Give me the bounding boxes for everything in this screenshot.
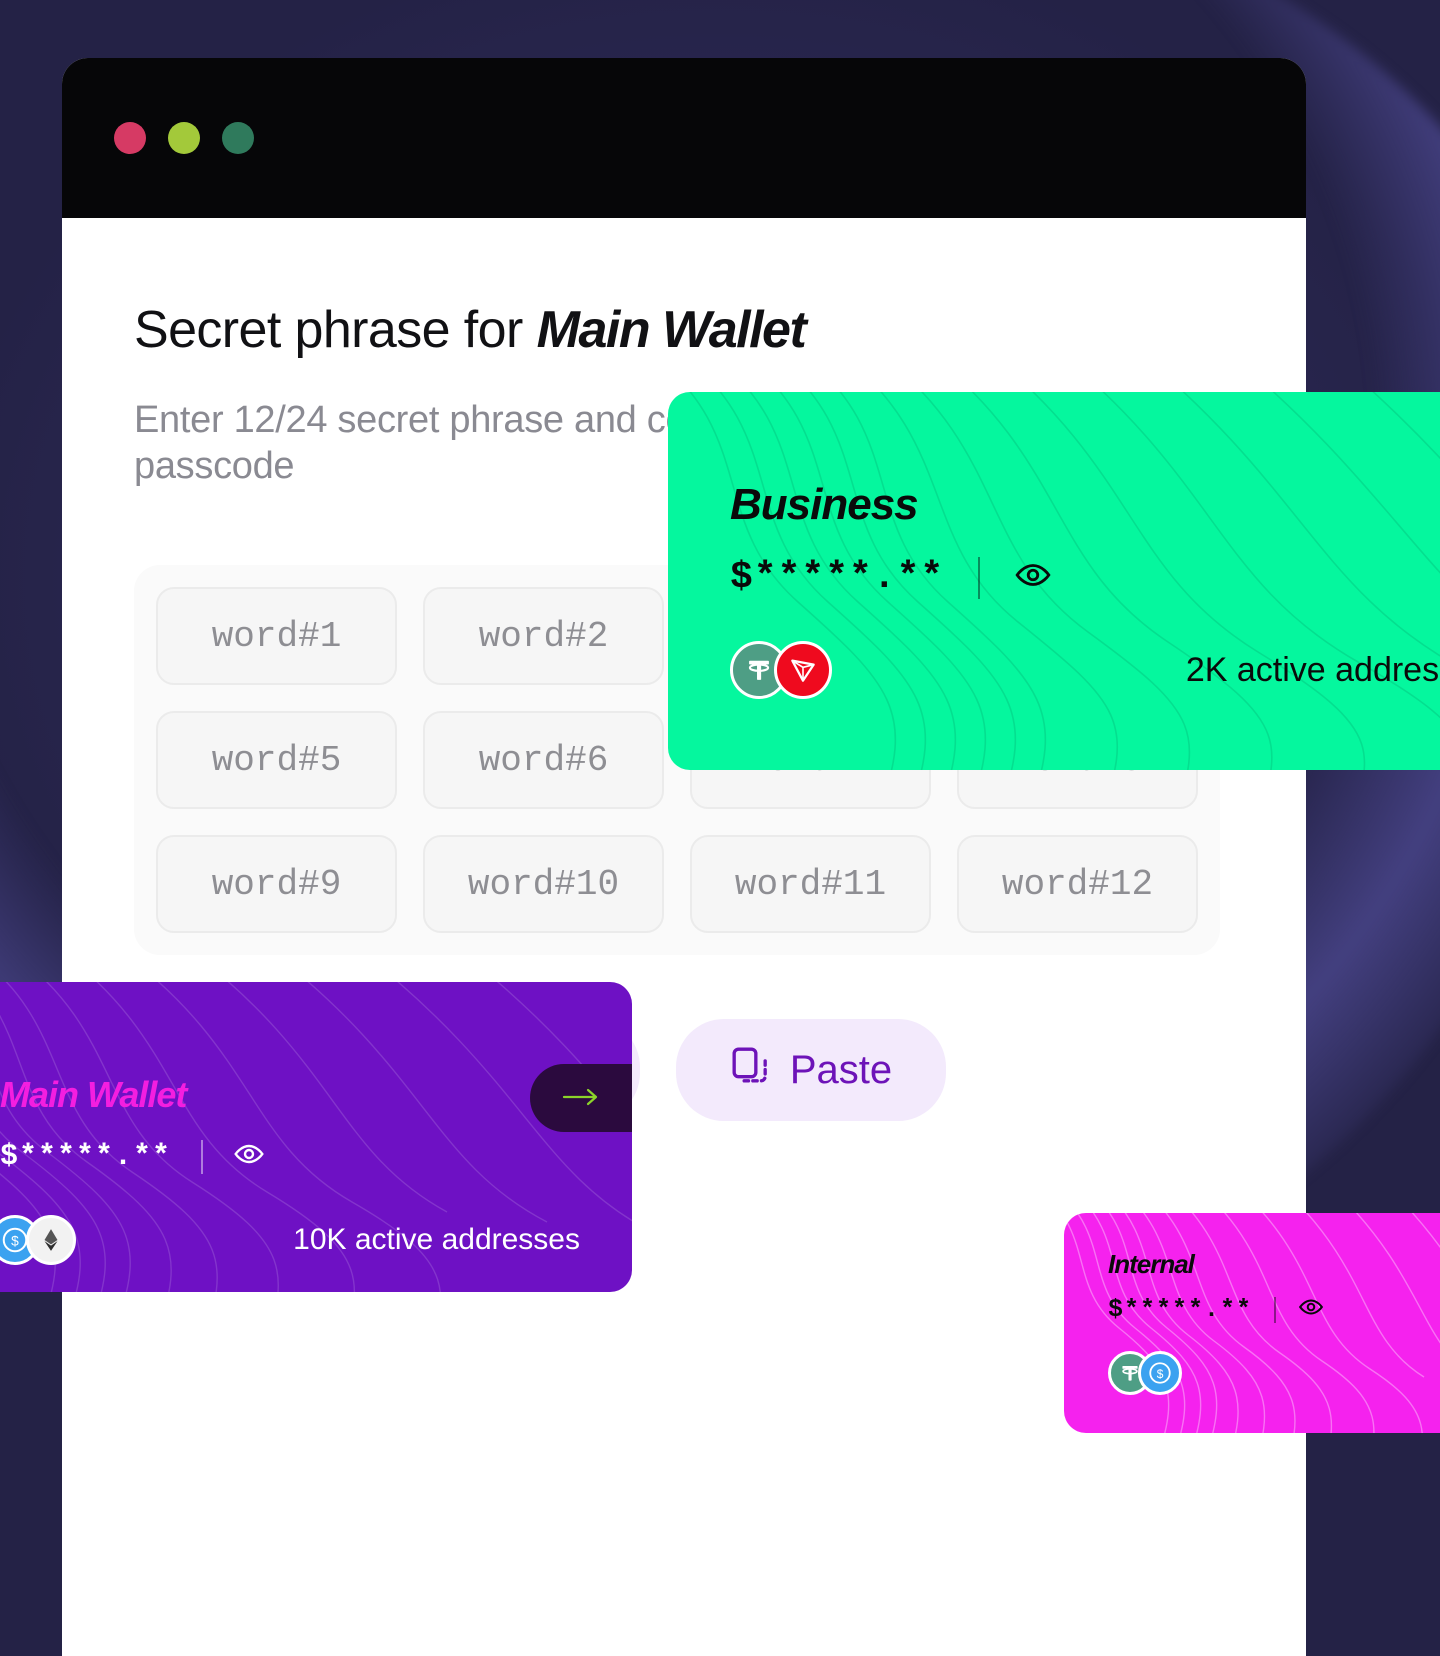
paste-button[interactable]: Paste [676, 1019, 946, 1121]
balance-divider [201, 1140, 203, 1174]
page-title-wallet-name: Main Wallet [537, 301, 806, 359]
wallet-card-business[interactable]: Business $*****.** 2K active addresses [668, 392, 1440, 770]
card-title-business: Business [730, 480, 1440, 530]
card-balance-main: $*****.** [0, 1140, 171, 1174]
page-title-prefix: Secret phrase for [134, 301, 523, 359]
card-balance-internal: $*****.** [1108, 1295, 1252, 1324]
balance-visibility-eye-icon[interactable] [1298, 1294, 1324, 1325]
balance-visibility-eye-icon[interactable] [1014, 556, 1052, 599]
arrow-right-icon [560, 1085, 602, 1112]
seed-word-input-11[interactable]: word#11 [690, 835, 931, 933]
paste-icon [730, 1045, 770, 1095]
wallet-card-main[interactable]: Main Wallet $*****.** $ 10K active addre… [0, 982, 632, 1292]
tron-coin-icon [774, 641, 832, 699]
card-next-arrow-button[interactable] [530, 1064, 632, 1132]
balance-divider [978, 557, 980, 599]
seed-word-input-12[interactable]: word#12 [957, 835, 1198, 933]
card-active-addresses-main: 10K active addresses [293, 1223, 580, 1257]
wallet-card-internal[interactable]: Internal $*****.** $ [1064, 1213, 1440, 1433]
balance-divider [1274, 1297, 1276, 1323]
svg-text:$: $ [1157, 1367, 1164, 1381]
seed-word-input-6[interactable]: word#6 [423, 711, 664, 809]
seed-word-input-5[interactable]: word#5 [156, 711, 397, 809]
card-active-addresses-business: 2K active addresses [1186, 651, 1440, 690]
window-close-button[interactable] [114, 122, 146, 154]
window-minimize-button[interactable] [168, 122, 200, 154]
card-coin-icons: $ [0, 1215, 76, 1265]
card-coin-icons: $ [1108, 1351, 1440, 1395]
page-title: Secret phrase forMain Wallet [134, 300, 1234, 360]
card-body: Internal $*****.** $ [1064, 1213, 1440, 1433]
window-maximize-button[interactable] [222, 122, 254, 154]
seed-word-input-9[interactable]: word#9 [156, 835, 397, 933]
seed-word-input-1[interactable]: word#1 [156, 587, 397, 685]
usdc-coin-icon: $ [1138, 1351, 1182, 1395]
browser-titlebar [62, 58, 1306, 218]
card-balance-row: $*****.** [730, 556, 1440, 599]
card-balance-row: $*****.** [0, 1138, 632, 1175]
ethereum-coin-icon [26, 1215, 76, 1265]
seed-word-input-2[interactable]: word#2 [423, 587, 664, 685]
card-coin-icons [730, 641, 832, 699]
balance-visibility-eye-icon[interactable] [233, 1138, 265, 1175]
paste-button-label: Paste [790, 1048, 892, 1093]
svg-text:$: $ [11, 1234, 19, 1249]
card-title-internal: Internal [1108, 1249, 1440, 1280]
card-body: Main Wallet $*****.** $ 10K active addre… [0, 982, 632, 1292]
seed-word-input-10[interactable]: word#10 [423, 835, 664, 933]
card-balance-business: $*****.** [730, 556, 944, 599]
card-balance-row: $*****.** [1108, 1294, 1440, 1325]
card-body: Business $*****.** 2K active addresses [668, 392, 1440, 770]
